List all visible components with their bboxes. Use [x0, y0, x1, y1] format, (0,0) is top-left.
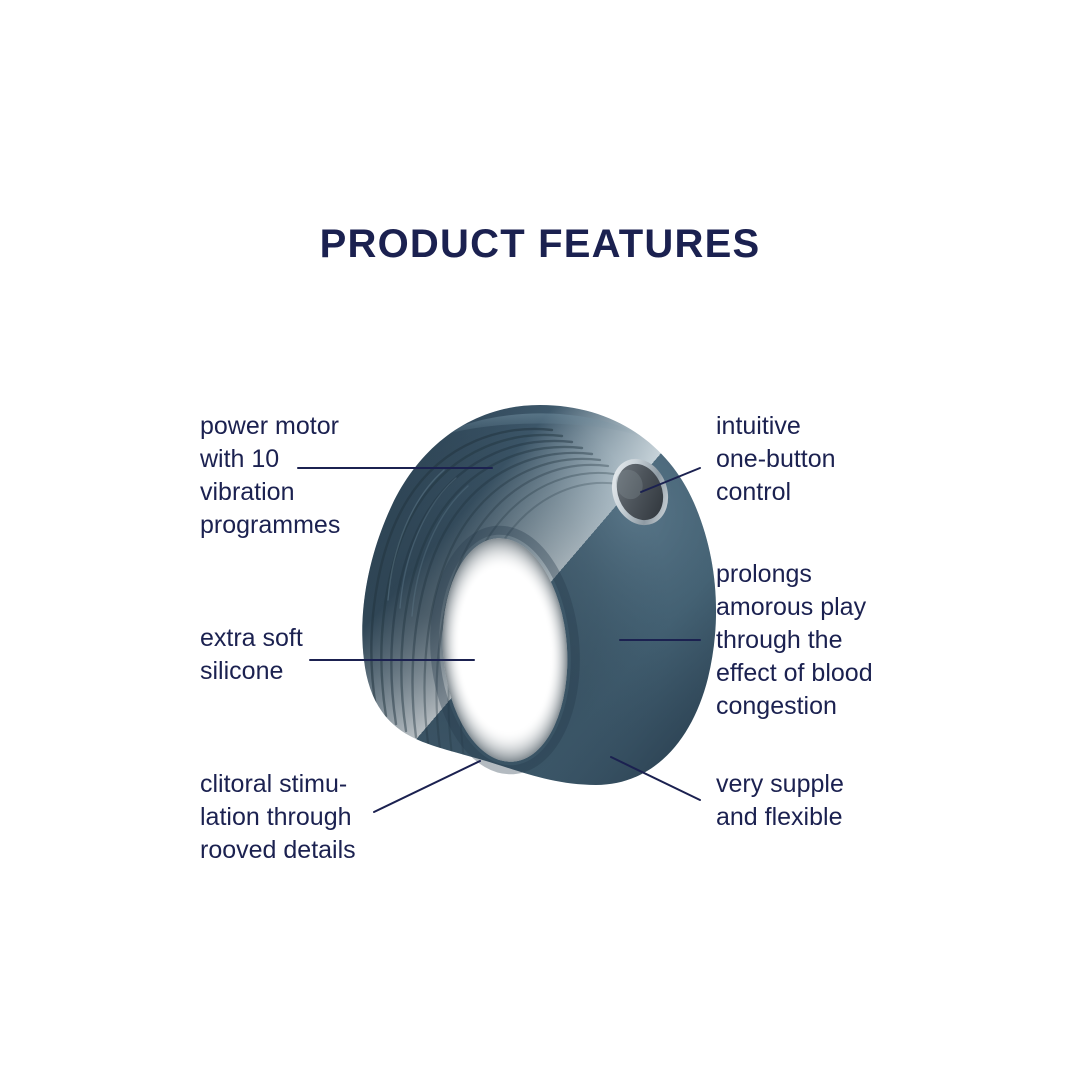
leader-supple-flexible	[611, 757, 700, 800]
leader-lines	[0, 0, 1080, 1080]
leader-clitoral-stimulation	[374, 761, 480, 812]
leader-intuitive-control	[641, 468, 700, 492]
product-features-diagram: PRODUCT FEATURES	[0, 0, 1080, 1080]
